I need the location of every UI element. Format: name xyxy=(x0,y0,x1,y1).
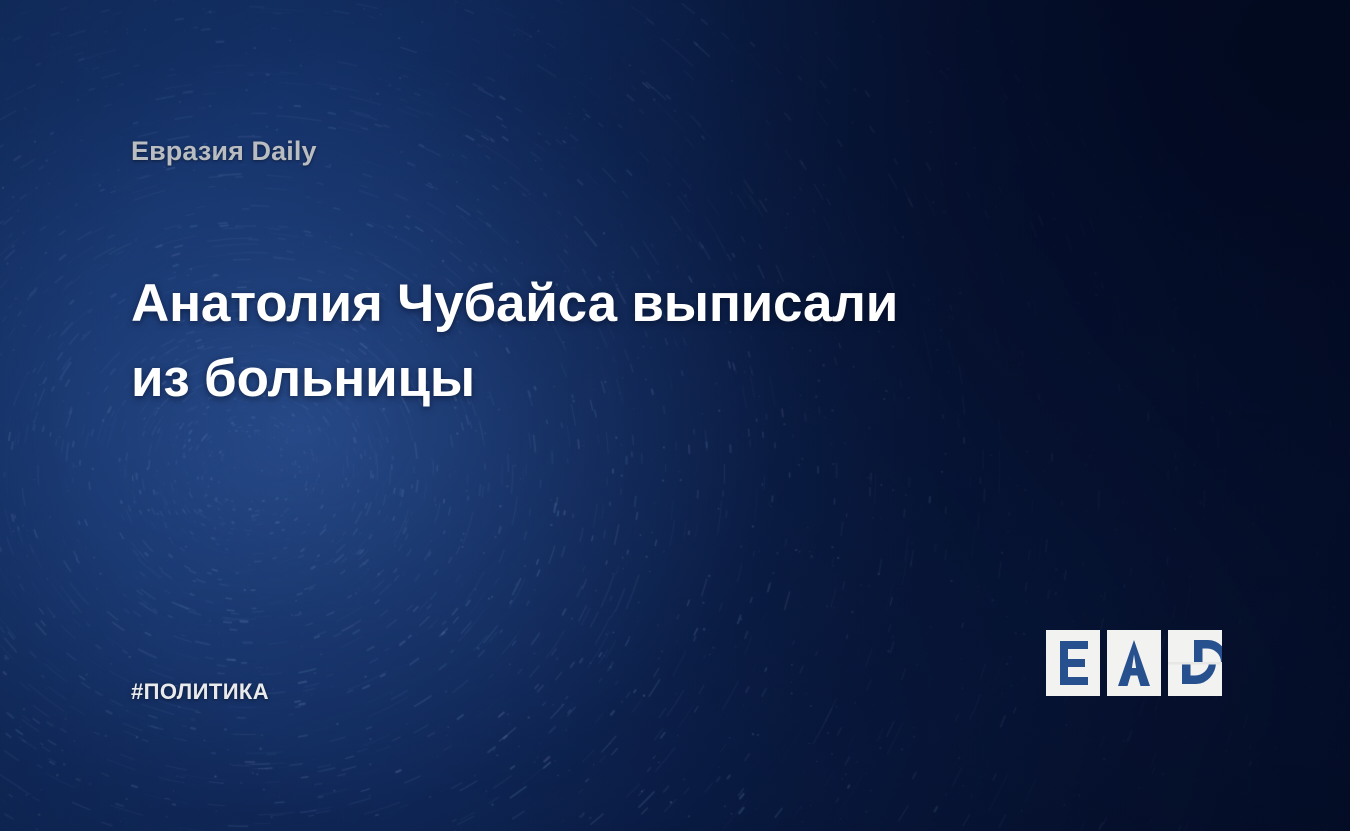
ead-logo-svg xyxy=(1046,630,1222,696)
ead-tile-d xyxy=(1168,630,1222,696)
headline: Анатолия Чубайса выписали из больницы xyxy=(131,266,961,416)
headline-line-1: Анатолия Чубайса выписали xyxy=(131,266,961,341)
ead-logo xyxy=(1046,630,1222,696)
card-content: Евразия Daily Анатолия Чубайса выписали … xyxy=(0,0,1350,831)
site-logo: Евразия Daily xyxy=(131,136,317,167)
ead-tile-a xyxy=(1107,630,1161,696)
headline-line-2: из больницы xyxy=(131,341,961,416)
category-tag[interactable]: #ПОЛИТИКА xyxy=(131,679,269,705)
ead-tile-e xyxy=(1046,630,1100,696)
news-card: Евразия Daily Анатолия Чубайса выписали … xyxy=(0,0,1350,831)
